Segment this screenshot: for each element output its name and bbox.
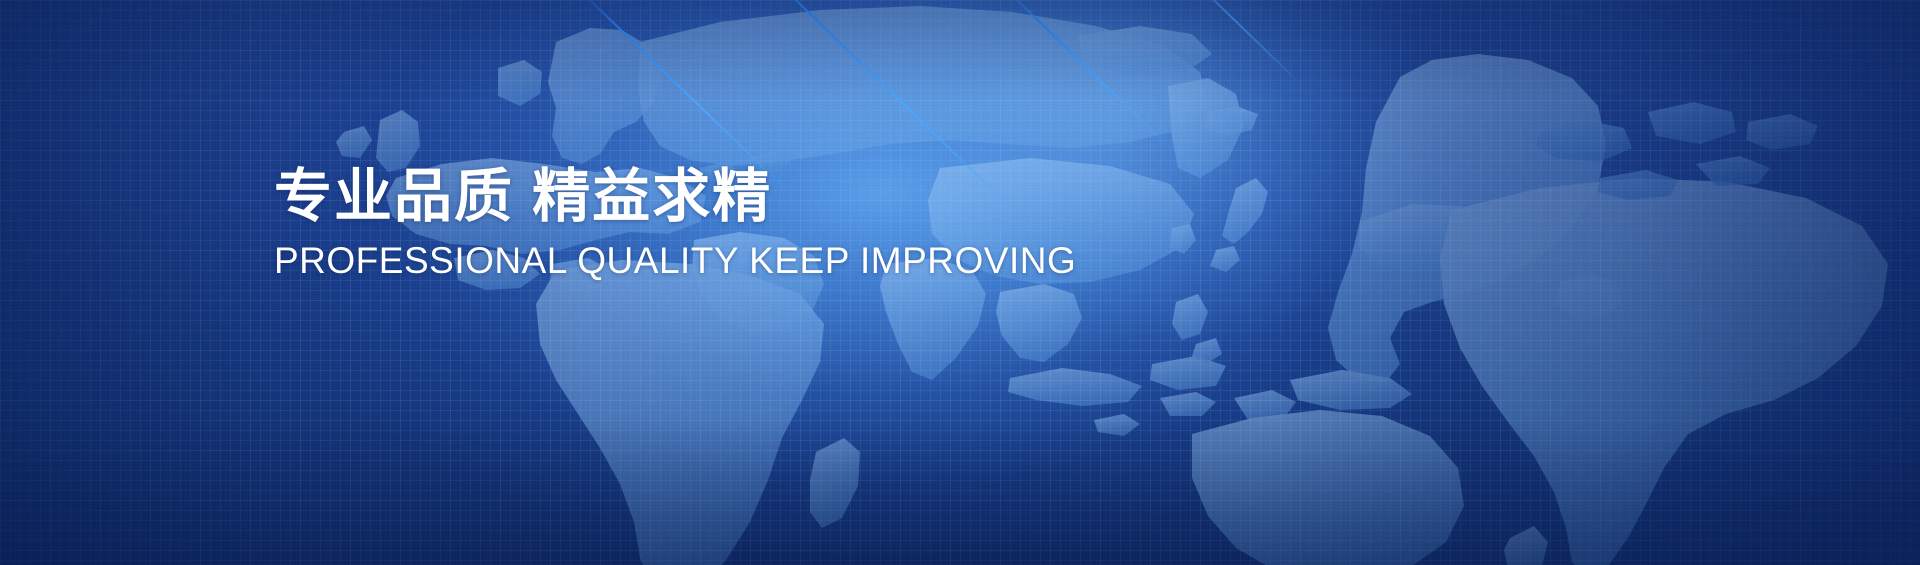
hero-banner: 专业品质 精益求精 PROFESSIONAL QUALITY KEEP IMPR… <box>0 0 1920 565</box>
background-vignette <box>0 0 1920 565</box>
banner-headline-chinese: 专业品质 精益求精 <box>274 168 1076 226</box>
banner-text-block: 专业品质 精益求精 PROFESSIONAL QUALITY KEEP IMPR… <box>274 168 1076 281</box>
banner-headline-english: PROFESSIONAL QUALITY KEEP IMPROVING <box>274 226 1076 281</box>
